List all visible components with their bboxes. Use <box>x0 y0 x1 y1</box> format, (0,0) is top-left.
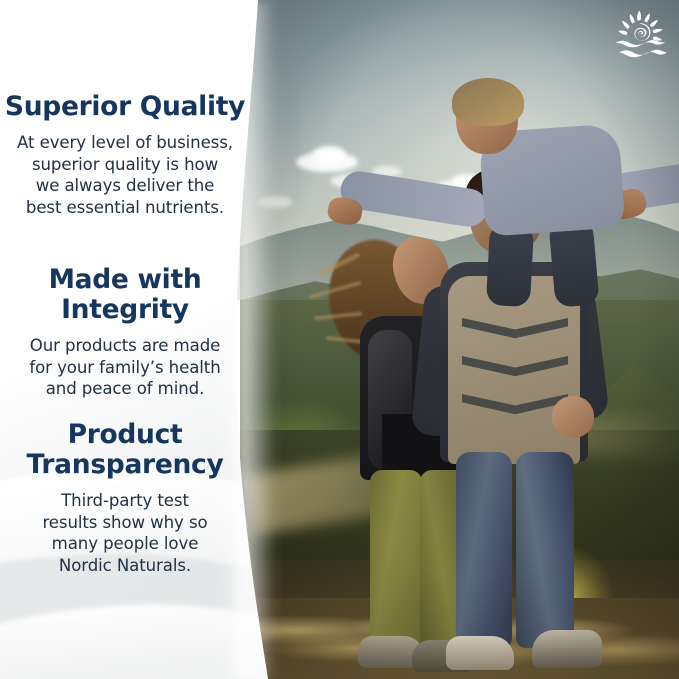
body-line: results show why so <box>0 512 250 534</box>
heading-line: Made with <box>49 264 202 295</box>
body-line: Third-party test <box>0 490 250 512</box>
heading-line: Integrity <box>61 294 189 325</box>
benefit-heading-product-transparency: Product Transparency <box>0 420 250 480</box>
body-line: At every level of business, <box>0 132 250 154</box>
benefit-block-product-transparency: Product Transparency Third-party test re… <box>0 420 250 576</box>
benefit-body-product-transparency: Third-party test results show why so man… <box>0 490 250 576</box>
lifestyle-infographic-canvas: Superior Quality At every level of busin… <box>0 0 679 679</box>
sun-waves-logo-icon <box>613 10 667 62</box>
body-line: for your family’s health <box>0 357 250 379</box>
benefit-block-superior-quality: Superior Quality At every level of busin… <box>0 92 250 218</box>
heading-line: Quality <box>140 91 245 122</box>
body-line: Nordic Naturals. <box>0 555 250 577</box>
benefits-text-column: Superior Quality At every level of busin… <box>0 0 250 679</box>
body-line: best essential nutrients. <box>0 197 250 219</box>
benefit-block-made-with-integrity: Made with Integrity Our products are mad… <box>0 265 250 400</box>
body-line: we always deliver the <box>0 175 250 197</box>
heading-line: Transparency <box>27 449 224 480</box>
heading-line: Superior <box>5 91 131 122</box>
photo-vignette <box>240 0 679 679</box>
body-line: and peace of mind. <box>0 378 250 400</box>
benefit-body-made-with-integrity: Our products are made for your family’s … <box>0 335 250 400</box>
body-line: many people love <box>0 533 250 555</box>
body-line: superior quality is how <box>0 154 250 176</box>
body-line: Our products are made <box>0 335 250 357</box>
benefit-body-superior-quality: At every level of business, superior qua… <box>0 132 250 218</box>
benefit-heading-made-with-integrity: Made with Integrity <box>0 265 250 325</box>
heading-line: Product <box>68 419 183 450</box>
benefit-heading-superior-quality: Superior Quality <box>0 92 250 122</box>
